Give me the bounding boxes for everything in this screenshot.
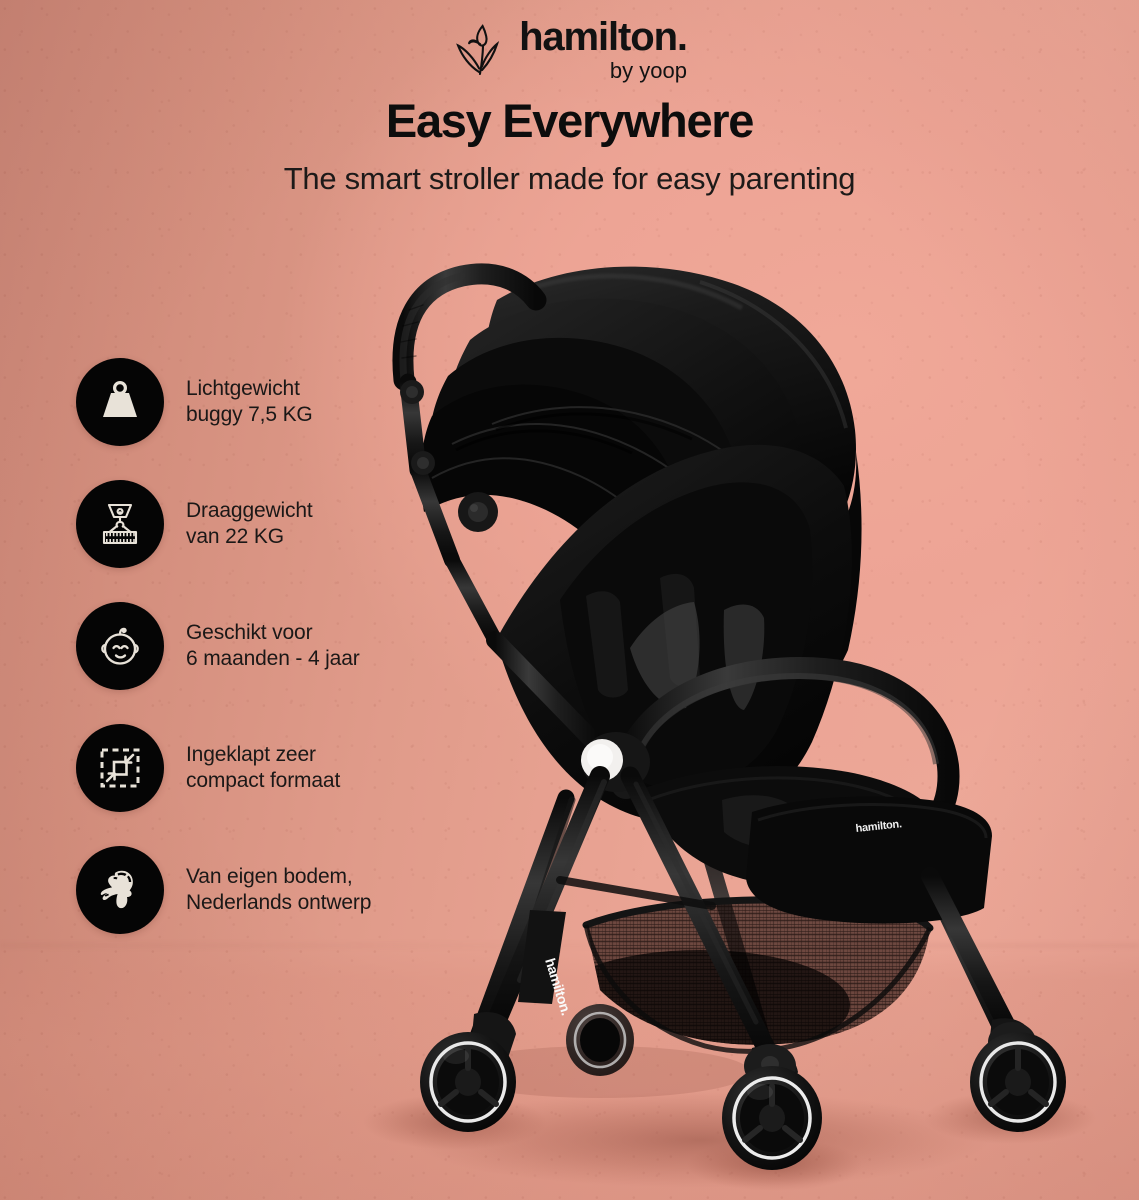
feature-label: Ingeklapt zeer compact formaat <box>186 742 340 793</box>
feature-item-leeftijd[interactable]: Geschikt voor 6 maanden - 4 jaar <box>76 602 360 690</box>
wheel-front-left <box>420 1032 516 1132</box>
wheel-front-right <box>722 1066 822 1170</box>
feature-item-nederlands[interactable]: Van eigen bodem, Nederlands ontwerp <box>76 846 371 934</box>
product-banner: hamilton. by yoop Easy Everywhere The sm… <box>0 0 1139 1200</box>
weight-icon <box>76 358 164 446</box>
compact-fold-icon <box>76 724 164 812</box>
feature-item-lichtgewicht[interactable]: Lichtgewicht buggy 7,5 KG <box>76 358 313 446</box>
feature-item-compact[interactable]: Ingeklapt zeer compact formaat <box>76 724 340 812</box>
feature-label: Draaggewicht van 22 KG <box>186 498 313 549</box>
netherlands-map-icon <box>76 846 164 934</box>
crane-hook-icon <box>76 480 164 568</box>
baby-face-icon <box>76 602 164 690</box>
wheel-rear-left <box>566 1004 634 1076</box>
footrest: hamilton. <box>746 797 992 924</box>
product-image: hamilton. hamilt <box>0 0 1139 1200</box>
feature-item-draaggewicht[interactable]: Draaggewicht van 22 KG <box>76 480 313 568</box>
stroller-illustration: hamilton. hamilt <box>0 0 1139 1200</box>
feature-label: Van eigen bodem, Nederlands ontwerp <box>186 864 371 915</box>
feature-label: Lichtgewicht buggy 7,5 KG <box>186 376 313 427</box>
feature-label: Geschikt voor 6 maanden - 4 jaar <box>186 620 360 671</box>
wheel-rear-right <box>970 1032 1066 1132</box>
